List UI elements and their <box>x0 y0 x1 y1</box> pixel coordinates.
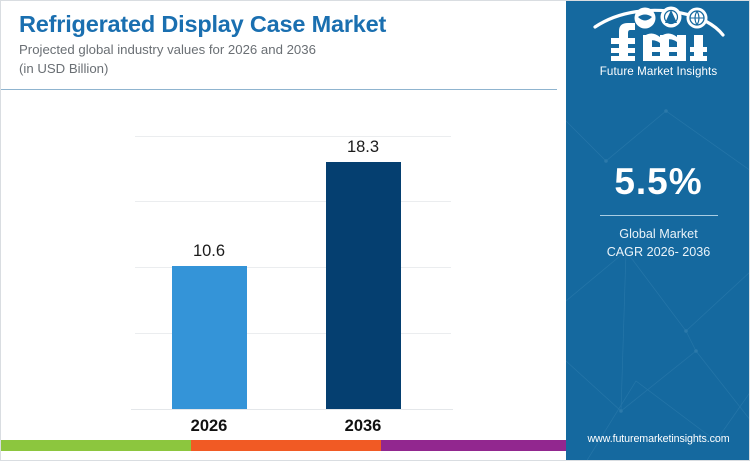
strip-segment-orange <box>191 440 381 451</box>
cagr-caption-line-1: Global Market <box>566 226 750 244</box>
website-url[interactable]: www.futuremarketinsights.com <box>566 433 750 445</box>
brand-color-strip <box>1 440 566 451</box>
cagr-callout: 5.5% Global Market CAGR 2026- 2036 <box>566 161 750 261</box>
brand-logo: Future Market Insights <box>566 5 750 78</box>
page-title: Refrigerated Display Case Market <box>19 9 556 39</box>
header-divider <box>1 89 557 90</box>
strip-segment-green <box>1 440 191 451</box>
cagr-divider <box>600 215 718 216</box>
cagr-caption-line-2: CAGR 2026- 2036 <box>566 244 750 262</box>
brand-wordmark: Future Market Insights <box>566 65 750 78</box>
bar-2026 <box>172 266 247 409</box>
brand-panel: Future Market Insights 5.5% Global Marke… <box>566 1 750 461</box>
bar-2036 <box>326 162 401 409</box>
fmi-logo-icon <box>589 5 729 63</box>
x-axis-label-2036: 2036 <box>318 417 408 436</box>
chart-subtitle-line-2: (in USD Billion) <box>19 60 556 79</box>
bar-value-label-2026: 10.6 <box>164 242 254 261</box>
strip-segment-purple <box>381 440 566 451</box>
chart-header: Refrigerated Display Case Market Project… <box>19 9 556 78</box>
gridline <box>135 201 451 202</box>
x-axis-label-2026: 2026 <box>164 417 254 436</box>
bar-value-label-2036: 18.3 <box>318 138 408 157</box>
cagr-value: 5.5% <box>566 161 750 203</box>
chart-area: Refrigerated Display Case Market Project… <box>1 1 566 451</box>
chart-subtitle: Projected global industry values for 202… <box>19 41 556 78</box>
infographic-canvas: Refrigerated Display Case Market Project… <box>0 0 750 461</box>
bar-chart-plot: 10.6 18.3 2026 2036 <box>135 121 451 411</box>
chart-subtitle-line-1: Projected global industry values for 202… <box>19 41 556 60</box>
axis-baseline <box>131 409 453 410</box>
